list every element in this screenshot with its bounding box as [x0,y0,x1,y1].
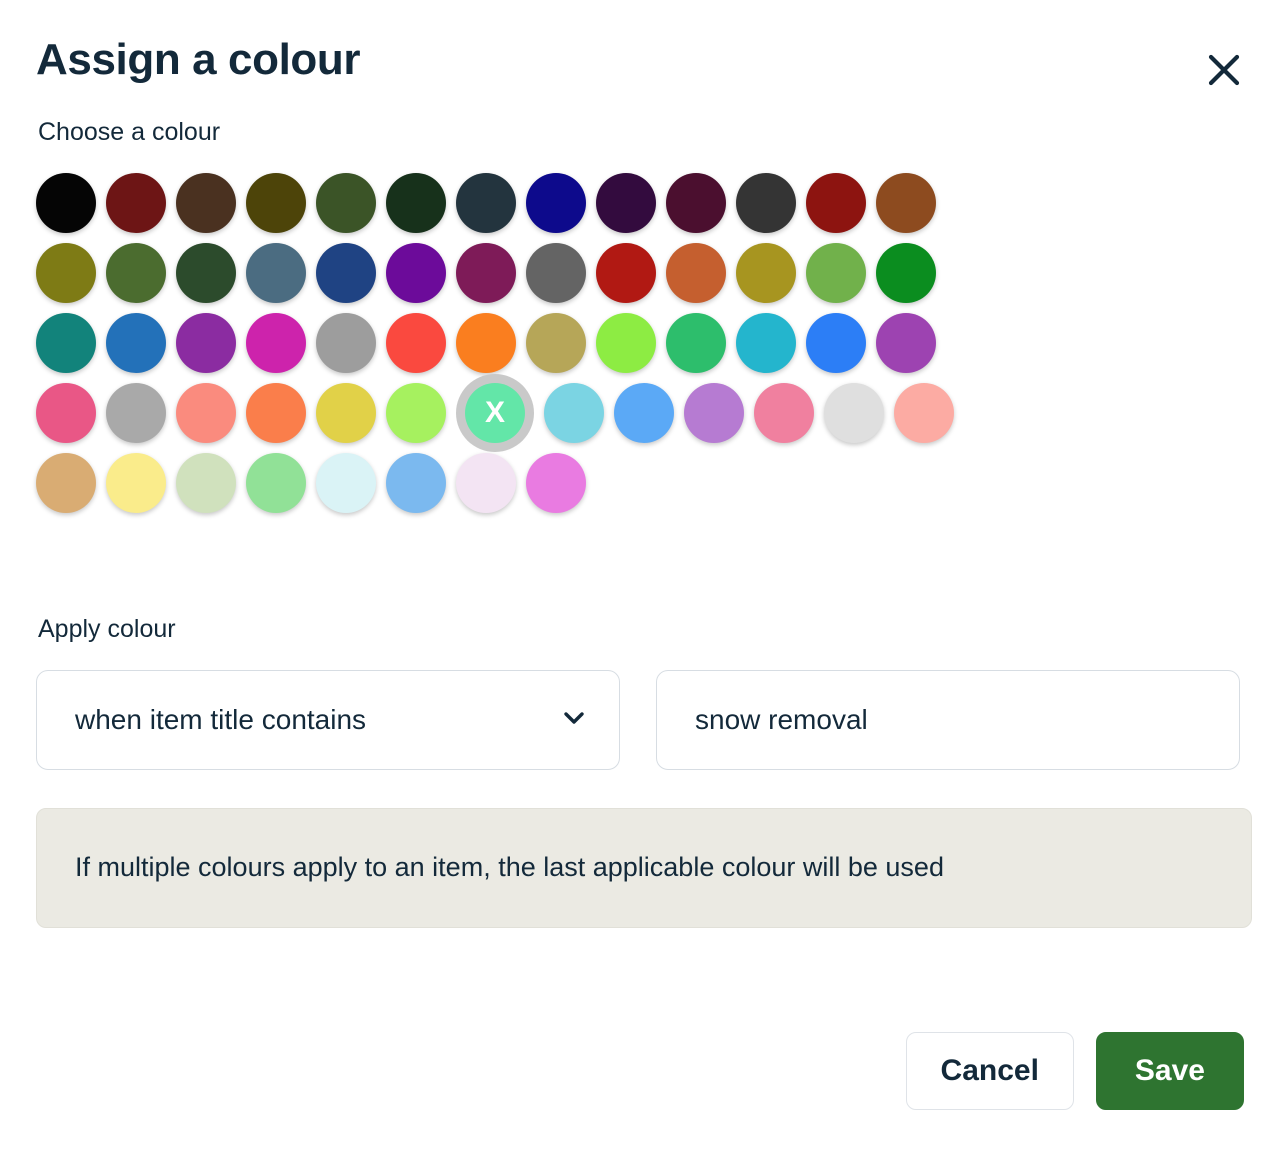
colour-swatch[interactable] [246,243,306,303]
colour-swatch[interactable] [736,243,796,303]
colour-swatch[interactable] [386,243,446,303]
colour-swatch[interactable] [36,453,96,513]
colour-swatch[interactable] [456,243,516,303]
apply-colour-controls: when item title contains [36,670,1252,770]
selected-swatch-marker: X [485,398,505,428]
colour-swatch[interactable] [596,243,656,303]
colour-swatch[interactable] [386,453,446,513]
colour-swatch[interactable] [316,243,376,303]
choose-colour-section: Choose a colour X [36,120,1252,513]
colour-swatch[interactable] [806,173,866,233]
colour-swatch[interactable] [106,243,166,303]
colour-swatch[interactable] [106,383,166,443]
colour-swatch[interactable] [176,243,236,303]
colour-swatch[interactable] [456,313,516,373]
colour-swatch[interactable] [876,243,936,303]
colour-swatch[interactable] [824,383,884,443]
colour-swatch[interactable] [316,313,376,373]
condition-select[interactable]: when item title contains [36,670,620,770]
colour-swatch[interactable] [246,313,306,373]
apply-colour-section: Apply colour when item title contains [36,617,1252,770]
colour-swatch[interactable] [736,313,796,373]
colour-swatch-row [36,243,1252,303]
colour-swatch[interactable] [316,453,376,513]
colour-swatch[interactable] [544,383,604,443]
save-button[interactable]: Save [1096,1032,1244,1110]
colour-swatch[interactable] [806,313,866,373]
colour-swatch[interactable] [666,173,726,233]
colour-swatch[interactable] [386,173,446,233]
colour-swatch[interactable] [684,383,744,443]
close-icon [1206,52,1242,88]
colour-swatch[interactable] [666,243,726,303]
colour-swatch[interactable] [386,313,446,373]
colour-swatch-row: X [36,383,1252,443]
colour-swatch[interactable] [596,313,656,373]
keyword-input[interactable] [656,670,1240,770]
colour-swatch[interactable] [176,453,236,513]
colour-swatch[interactable] [246,383,306,443]
page-title: Assign a colour [36,38,360,82]
colour-swatch-row [36,453,1252,513]
colour-swatch[interactable] [754,383,814,443]
colour-swatch[interactable] [36,313,96,373]
colour-swatch-selected[interactable]: X [465,383,525,443]
close-button[interactable] [1196,42,1252,98]
colour-swatch[interactable] [246,453,306,513]
colour-swatch[interactable] [526,173,586,233]
colour-swatch[interactable] [176,173,236,233]
colour-swatch[interactable] [666,313,726,373]
chevron-down-icon [559,703,589,738]
colour-swatch[interactable] [894,383,954,443]
colour-swatch[interactable] [246,173,306,233]
colour-swatch[interactable] [106,313,166,373]
colour-swatch[interactable] [176,383,236,443]
cancel-button[interactable]: Cancel [906,1032,1074,1110]
colour-swatch[interactable] [36,243,96,303]
colour-swatch[interactable] [526,243,586,303]
colour-swatch[interactable] [36,383,96,443]
colour-swatch[interactable] [876,173,936,233]
assign-colour-dialog: Assign a colour Choose a colour X Apply … [0,0,1288,1156]
colour-swatch[interactable] [456,173,516,233]
colour-swatch[interactable] [456,453,516,513]
colour-swatch[interactable] [176,313,236,373]
colour-swatch[interactable] [316,383,376,443]
colour-swatch[interactable] [614,383,674,443]
notice-banner: If multiple colours apply to an item, th… [36,808,1252,928]
colour-swatch[interactable] [526,313,586,373]
colour-swatch[interactable] [386,383,446,443]
choose-colour-label: Choose a colour [38,120,1252,145]
colour-swatch[interactable] [806,243,866,303]
colour-swatch[interactable] [736,173,796,233]
colour-swatch[interactable] [106,453,166,513]
colour-swatch[interactable] [526,453,586,513]
colour-swatch[interactable] [596,173,656,233]
apply-colour-label: Apply colour [38,617,1252,642]
colour-swatch-row [36,313,1252,373]
colour-swatch-row [36,173,1252,233]
notice-text: If multiple colours apply to an item, th… [75,850,944,885]
colour-swatch[interactable] [316,173,376,233]
colour-swatch[interactable] [106,173,166,233]
colour-swatch[interactable] [36,173,96,233]
colour-swatch-grid: X [36,173,1252,513]
dialog-footer: Cancel Save [906,1032,1244,1110]
colour-swatch[interactable] [876,313,936,373]
dialog-header: Assign a colour [36,0,1252,120]
condition-select-value: when item title contains [75,704,559,736]
